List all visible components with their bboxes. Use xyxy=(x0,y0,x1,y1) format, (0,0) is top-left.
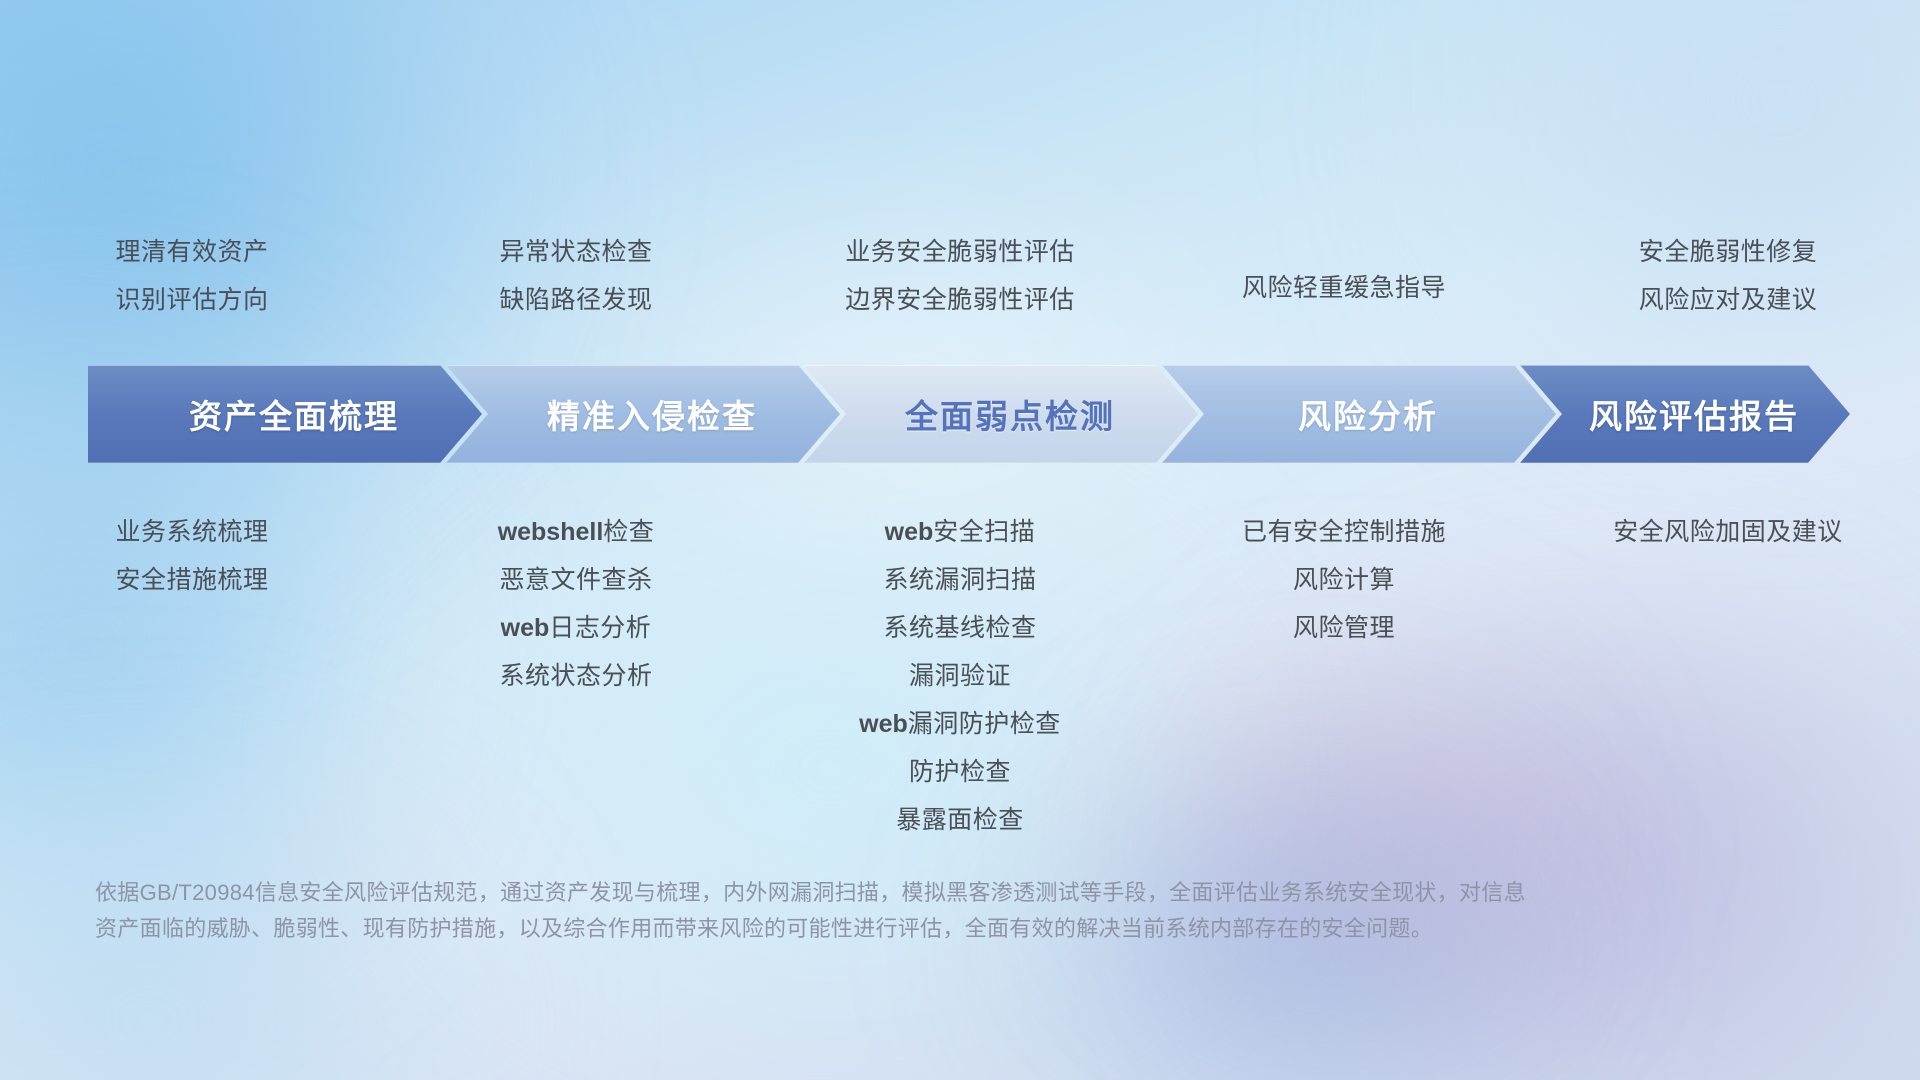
note-item: 缺陷路径发现 xyxy=(499,276,652,324)
note-text: 恶意文件查杀 xyxy=(499,566,652,594)
note-item: web安全扫描 xyxy=(885,508,1036,556)
top-notes-column-1: 理清有效资产 识别评估方向 xyxy=(0,228,384,324)
note-text: 风险管理 xyxy=(1293,614,1395,642)
note-item: 漏洞验证 xyxy=(909,652,1011,700)
stage-title: 全面弱点检测 xyxy=(887,390,1115,438)
footer-line-1: 依据GB/T20984信息安全风险评估规范，通过资产发现与梳理，内外网漏洞扫描，… xyxy=(95,875,1715,911)
note-item: 业务安全脆弱性评估 xyxy=(845,228,1075,276)
note-text: 漏洞防护检查 xyxy=(908,710,1061,738)
note-item: webshell检查 xyxy=(498,508,655,556)
note-item: 业务系统梳理 xyxy=(115,508,268,556)
note-text: 安全扫描 xyxy=(933,518,1035,546)
note-item: 风险计算 xyxy=(1293,556,1395,604)
note-item: 防护检查 xyxy=(909,748,1011,796)
note-item: 识别评估方向 xyxy=(115,276,268,324)
note-text: 漏洞验证 xyxy=(909,662,1011,690)
bottom-notes-column-3: web安全扫描 系统漏洞扫描 系统基线检查 漏洞验证 web漏洞防护检查 防护检… xyxy=(768,508,1152,844)
process-banner: 资产全面梳理 精准入侵检查 全面弱点检测 风险分析 风险评估报告 xyxy=(88,365,1850,463)
stage-title: 风险分析 xyxy=(1280,390,1438,438)
note-text: 日志分析 xyxy=(549,614,651,642)
stage-title: 资产全面梳理 xyxy=(171,390,399,438)
note-text: 防护检查 xyxy=(909,758,1011,786)
bottom-notes-column-5: 安全风险加固及建议 xyxy=(1536,508,1920,556)
note-text: 安全风险加固及建议 xyxy=(1613,518,1843,546)
note-item: 异常状态检查 xyxy=(499,228,652,276)
top-notes-column-2: 异常状态检查 缺陷路径发现 xyxy=(384,228,768,324)
stage-chevron-risk-analysis[interactable]: 风险分析 xyxy=(1162,365,1556,463)
bottom-notes-column-2: webshell检查 恶意文件查杀 web日志分析 系统状态分析 xyxy=(384,508,768,700)
note-text: 系统状态分析 xyxy=(499,662,652,690)
stage-chevron-assessment-report[interactable]: 风险评估报告 xyxy=(1520,365,1850,463)
note-latin: webshell xyxy=(498,518,604,546)
note-latin: web xyxy=(501,614,550,642)
stage-chevron-intrusion-check[interactable]: 精准入侵检查 xyxy=(446,365,840,463)
stage-chevron-weakness-detection[interactable]: 全面弱点检测 xyxy=(804,365,1198,463)
note-item: 风险轻重缓急指导 xyxy=(1242,264,1446,312)
note-item: 系统基线检查 xyxy=(883,604,1036,652)
note-text: 已有安全控制措施 xyxy=(1242,518,1446,546)
note-text: 检查 xyxy=(603,518,654,546)
note-item: 边界安全脆弱性评估 xyxy=(845,276,1075,324)
footer-line-2: 资产面临的威胁、脆弱性、现有防护措施，以及综合作用而带来风险的可能性进行评估，全… xyxy=(95,911,1715,947)
note-item: 风险应对及建议 xyxy=(1639,276,1818,324)
bottom-notes-column-1: 业务系统梳理 安全措施梳理 xyxy=(0,508,384,604)
footer-description: 依据GB/T20984信息安全风险评估规范，通过资产发现与梳理，内外网漏洞扫描，… xyxy=(95,875,1715,947)
bottom-notes-row: 业务系统梳理 安全措施梳理 webshell检查 恶意文件查杀 web日志分析 … xyxy=(0,508,1920,844)
note-item: 安全脆弱性修复 xyxy=(1639,228,1818,276)
note-text: 暴露面检查 xyxy=(896,806,1024,834)
note-item: 安全措施梳理 xyxy=(115,556,268,604)
stage-title: 精准入侵检查 xyxy=(529,390,757,438)
note-item: 风险管理 xyxy=(1293,604,1395,652)
stage-chevron-asset-inventory[interactable]: 资产全面梳理 xyxy=(88,365,482,463)
top-notes-row: 理清有效资产 识别评估方向 异常状态检查 缺陷路径发现 业务安全脆弱性评估 边界… xyxy=(0,228,1920,324)
note-text: 系统基线检查 xyxy=(883,614,1036,642)
note-latin: web xyxy=(859,710,908,738)
note-item: 系统状态分析 xyxy=(499,652,652,700)
bottom-notes-column-4: 已有安全控制措施 风险计算 风险管理 xyxy=(1152,508,1536,652)
note-text: 系统漏洞扫描 xyxy=(883,566,1036,594)
top-notes-column-4: 风险轻重缓急指导 xyxy=(1152,228,1536,324)
note-item: 已有安全控制措施 xyxy=(1242,508,1446,556)
note-item: 恶意文件查杀 xyxy=(499,556,652,604)
note-item: web漏洞防护检查 xyxy=(859,700,1061,748)
note-text: 业务系统梳理 xyxy=(115,518,268,546)
note-item: web日志分析 xyxy=(501,604,652,652)
note-latin: web xyxy=(885,518,934,546)
slide-canvas: 理清有效资产 识别评估方向 异常状态检查 缺陷路径发现 业务安全脆弱性评估 边界… xyxy=(0,0,1920,1080)
stage-title: 风险评估报告 xyxy=(1571,390,1799,438)
note-item: 暴露面检查 xyxy=(896,796,1024,844)
note-item: 系统漏洞扫描 xyxy=(883,556,1036,604)
note-text: 风险计算 xyxy=(1293,566,1395,594)
note-item: 理清有效资产 xyxy=(115,228,268,276)
note-item: 安全风险加固及建议 xyxy=(1613,508,1843,556)
note-text: 安全措施梳理 xyxy=(115,566,268,594)
top-notes-column-5: 安全脆弱性修复 风险应对及建议 xyxy=(1536,228,1920,324)
top-notes-column-3: 业务安全脆弱性评估 边界安全脆弱性评估 xyxy=(768,228,1152,324)
